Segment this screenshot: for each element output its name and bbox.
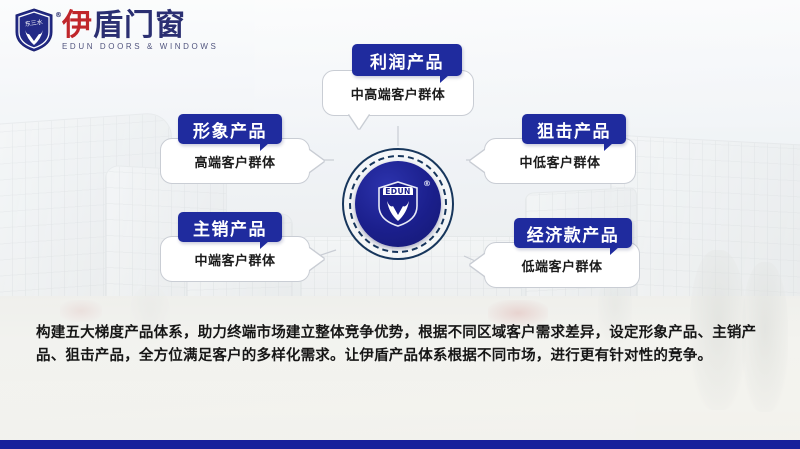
logo-wordmark-en: EDUN DOORS & WINDOWS [62, 42, 218, 51]
heading-pointer [440, 75, 449, 83]
registered-mark-icon: ® [55, 11, 62, 19]
callout-profit[interactable]: 中高端客户群体 利润产品 [322, 44, 474, 116]
heading-pointer [260, 143, 269, 151]
callout-image[interactable]: 高端客户群体 形象产品 [160, 114, 310, 184]
callout-image-heading-text: 形象产品 [193, 117, 267, 142]
callout-image-heading[interactable]: 形象产品 [178, 114, 282, 144]
logo-wordmark-rest: 盾门窗 [93, 8, 186, 43]
shield-icon: 东三水 [14, 8, 54, 52]
callout-profit-body: 中高端客户群体 [322, 70, 474, 116]
callout-sniper-heading[interactable]: 狙击产品 [522, 114, 626, 144]
callout-economy[interactable]: 低端客户群体 经济款产品 [484, 218, 640, 288]
callout-main-heading-text: 主销产品 [193, 215, 267, 240]
logo-shield-wrap: 东三水 ® [14, 8, 58, 54]
callout-pointer-left [470, 150, 485, 172]
logo-wordmark-accent-char: 伊 [62, 8, 93, 43]
callout-sniper[interactable]: 中低客户群体 狙击产品 [484, 114, 636, 184]
callout-image-subtitle: 高端客户群体 [194, 152, 275, 171]
brand-logo: 东三水 ® 伊盾门窗 EDUN DOORS & WINDOWS [14, 8, 218, 54]
registered-mark-icon: ® [423, 179, 431, 188]
callout-main-heading[interactable]: 主销产品 [178, 212, 282, 242]
svg-text:EDUN: EDUN [385, 187, 411, 196]
callout-sniper-subtitle: 中低客户群体 [519, 152, 600, 171]
callout-main[interactable]: 中端客户群体 主销产品 [160, 212, 310, 282]
bottom-accent-bar [0, 440, 800, 449]
logo-wordmark-cn: 伊盾门窗 [62, 11, 218, 42]
emblem-disc: EDUN ® [355, 161, 441, 247]
callout-profit-heading[interactable]: 利润产品 [352, 44, 462, 76]
callout-economy-subtitle: 低端客户群体 [521, 256, 602, 275]
shield-icon: EDUN [376, 180, 420, 228]
callout-profit-subtitle: 中高端客户群体 [351, 84, 446, 103]
callout-pointer-down [349, 114, 369, 129]
center-emblem: EDUN ® [342, 148, 454, 260]
heading-pointer [260, 241, 269, 249]
callout-sniper-heading-text: 狙击产品 [537, 117, 611, 142]
callout-main-subtitle: 中端客户群体 [194, 250, 275, 269]
callout-pointer-right [309, 248, 324, 270]
callout-image-body: 高端客户群体 [160, 138, 310, 184]
callout-profit-heading-text: 利润产品 [370, 48, 444, 73]
callout-economy-heading[interactable]: 经济款产品 [514, 218, 632, 248]
logo-text-block: 伊盾门窗 EDUN DOORS & WINDOWS [62, 11, 218, 52]
callout-pointer-left [470, 254, 485, 276]
heading-pointer [604, 143, 613, 151]
heading-pointer [610, 247, 619, 255]
callout-economy-heading-text: 经济款产品 [527, 221, 620, 246]
callout-main-body: 中端客户群体 [160, 236, 310, 282]
slide-canvas: 东三水 ® 伊盾门窗 EDUN DOORS & WINDOWS EDUN ® 中… [0, 0, 800, 449]
body-paragraph: 构建五大梯度产品体系，助力终端市场建立整体竞争优势，根据不同区域客户需求差异，设… [36, 322, 776, 369]
callout-sniper-body: 中低客户群体 [484, 138, 636, 184]
callout-pointer-right [309, 150, 324, 172]
